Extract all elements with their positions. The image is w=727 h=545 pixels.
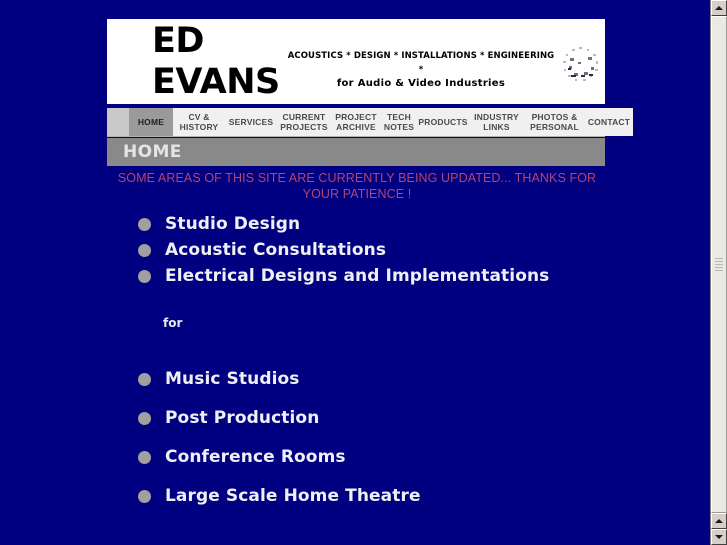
bullet-icon — [138, 218, 151, 231]
list-item-label: Acoustic Consultations — [165, 240, 386, 260]
page-title: HOME — [123, 142, 182, 162]
scroll-grip-icon — [715, 258, 723, 272]
scroll-up-button-top[interactable] — [711, 0, 727, 16]
scrollbar-thumb[interactable] — [711, 16, 727, 513]
list-item: Post Production — [138, 408, 658, 428]
list-item: Conference Rooms — [138, 447, 658, 467]
site-header: ED EVANS ACOUSTICS * DESIGN * INSTALLATI… — [107, 19, 605, 104]
tagline-industries: for Audio & Video Industries — [287, 77, 555, 91]
list-item: Electrical Designs and Implementations — [138, 266, 658, 286]
nav-item-cv-history[interactable]: CV & HISTORY — [173, 108, 225, 136]
page-viewport: ED EVANS ACOUSTICS * DESIGN * INSTALLATI… — [0, 0, 710, 545]
nav-item-home[interactable]: HOME — [129, 108, 173, 136]
list-item-label: Post Production — [165, 408, 319, 428]
page-title-bar: HOME — [107, 138, 605, 166]
list-item-label: Studio Design — [165, 214, 300, 234]
bullet-icon — [138, 412, 151, 425]
bullet-icon — [138, 451, 151, 464]
tagline-disciplines: ACOUSTICS * DESIGN * INSTALLATIONS * ENG… — [287, 49, 555, 77]
bullet-icon — [138, 270, 151, 283]
nav-item-industry-links[interactable]: INDUSTRY LINKS — [469, 108, 524, 136]
dotted-circle-logo-icon — [559, 44, 603, 88]
nav-item-services[interactable]: SERVICES — [225, 108, 277, 136]
list-item: Studio Design — [138, 214, 658, 234]
nav-item-photos-personal[interactable]: PHOTOS & PERSONAL — [524, 108, 585, 136]
list-item-label: Large Scale Home Theatre — [165, 486, 421, 506]
scroll-down-button[interactable] — [711, 529, 727, 545]
list-item: Acoustic Consultations — [138, 240, 658, 260]
list-item-label: Music Studios — [165, 369, 300, 389]
bullet-icon — [138, 373, 151, 386]
for-connector-label: for — [163, 316, 182, 330]
nav-item-products[interactable]: PRODUCTS — [417, 108, 469, 136]
scroll-up-arrow-icon — [715, 519, 723, 523]
site-update-notice: SOME AREAS OF THIS SITE ARE CURRENTLY BE… — [112, 170, 602, 202]
list-item: Large Scale Home Theatre — [138, 486, 658, 506]
list-item-label: Conference Rooms — [165, 447, 346, 467]
scroll-up-button-bottom[interactable] — [711, 513, 727, 529]
nav-item-project-archive[interactable]: PROJECT ARCHIVE — [331, 108, 381, 136]
services-list: Studio Design Acoustic Consultations Ele… — [138, 214, 658, 292]
site-tagline: ACOUSTICS * DESIGN * INSTALLATIONS * ENG… — [287, 49, 555, 91]
nav-left-spacer — [107, 108, 129, 136]
scrollbar-track[interactable] — [711, 16, 727, 513]
nav-item-contact[interactable]: CONTACT — [585, 108, 633, 136]
list-item-label: Electrical Designs and Implementations — [165, 266, 549, 286]
nav-item-current-projects[interactable]: CURRENT PROJECTS — [277, 108, 331, 136]
main-navigation[interactable]: HOME CV & HISTORY SERVICES CURRENT PROJE… — [107, 108, 605, 137]
scroll-up-arrow-icon — [715, 6, 723, 10]
bullet-icon — [138, 244, 151, 257]
scroll-down-arrow-icon — [715, 535, 723, 539]
list-item: Music Studios — [138, 369, 658, 389]
nav-item-tech-notes[interactable]: TECH NOTES — [381, 108, 417, 136]
vertical-scrollbar[interactable] — [710, 0, 727, 545]
applications-list: Music Studios Post Production Conference… — [138, 369, 658, 525]
bullet-icon — [138, 490, 151, 503]
